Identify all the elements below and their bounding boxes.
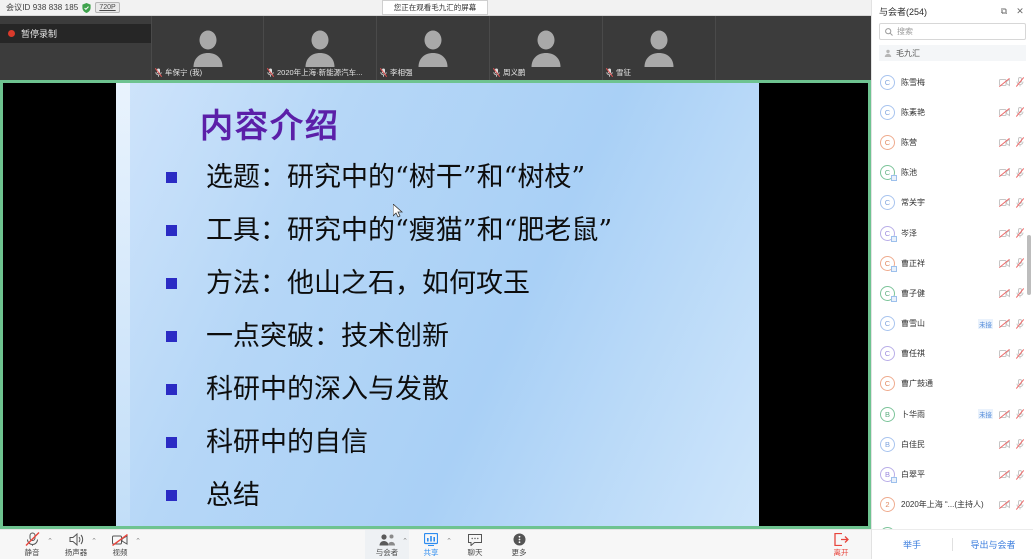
toolbar-button-label: 静音: [25, 547, 40, 558]
toolbar-leave-button[interactable]: 离开: [819, 530, 863, 559]
participant-tag: 未接: [978, 409, 993, 419]
participant-name: 常关宇: [901, 197, 993, 208]
participant-row[interactable]: C陈池: [872, 158, 1033, 188]
participant-status-icons: [999, 409, 1024, 419]
toolbar-right-group: 离开: [819, 530, 863, 559]
participant-row[interactable]: 22020年上海 “...(主持人): [872, 490, 1033, 520]
more-icon: [513, 532, 526, 546]
panel-header: 与会者(254) ⧉ ✕: [872, 0, 1033, 22]
search-placeholder: 搜索: [897, 26, 913, 37]
bullet-text: 选题：研究中的“树干”和“树枝”: [206, 160, 585, 196]
mic-muted-icon: [155, 68, 162, 77]
participant-row[interactable]: B卜华雨未接: [872, 399, 1033, 429]
mic-muted-icon: [1016, 77, 1024, 87]
participant-row[interactable]: C岑泽: [872, 218, 1033, 248]
bullet-marker-icon: [166, 384, 177, 395]
raise-hand-button[interactable]: 举手: [872, 538, 952, 551]
participant-name: 卜华雨: [901, 409, 972, 420]
avatar: C: [880, 286, 895, 301]
participant-name: 2020年上海 “...(主持人): [901, 499, 993, 510]
mic-muted-icon: [1016, 379, 1024, 389]
mic-muted-icon: [1016, 349, 1024, 359]
thumbnail-name: 雪征: [616, 67, 631, 78]
participant-row[interactable]: C曹雪山未接: [872, 309, 1033, 339]
toolbar-chat-button[interactable]: 聊天: [453, 530, 497, 559]
avatar: [190, 27, 225, 67]
participant-row[interactable]: C曹正祥: [872, 248, 1033, 278]
chevron-up-icon[interactable]: ⌃: [135, 537, 141, 545]
participant-row[interactable]: B白佳民: [872, 429, 1033, 459]
meeting-toolbar: 静音⌃扬声器⌃视频⌃ 与会者⌃共享⌃聊天更多 离开: [0, 529, 871, 559]
bullet-text: 科研中的自信: [206, 425, 368, 461]
participant-row[interactable]: C常关宇: [872, 188, 1033, 218]
avatar: B: [880, 467, 895, 482]
mic-muted-icon: [606, 68, 613, 77]
toolbar-button-label: 共享: [424, 547, 439, 558]
video-thumbnail[interactable]: 2020年上海·新能源汽车...: [264, 16, 377, 80]
mic-muted-icon: [1016, 168, 1024, 178]
viewing-notice: 您正在观看毛九汇的屏幕: [382, 0, 488, 15]
slide-bullet: 选题：研究中的“树干”和“树枝”: [166, 160, 756, 213]
participant-status-icons: [999, 349, 1024, 359]
video-thumbnail[interactable]: 牟保宁 (我): [151, 16, 264, 80]
thumbnail-label: 李相强: [380, 67, 413, 78]
participant-status-icons: [999, 107, 1024, 117]
camera-off-icon: [999, 229, 1010, 238]
camera-off-icon: [999, 289, 1010, 298]
device-badge-icon: [891, 236, 897, 242]
video-off-icon: [112, 532, 128, 546]
participant-list[interactable]: C陈雪梅C陈素艳C陈营C陈池C常关宇C岑泽C曹正祥C曹子健C曹雪山未接C曹任祺C…: [872, 65, 1033, 529]
avatar: C: [880, 346, 895, 361]
mic-muted-icon: [380, 68, 387, 77]
participant-status-icons: [999, 500, 1024, 510]
participant-row[interactable]: C陈营: [872, 127, 1033, 157]
participant-status-icons: [999, 439, 1024, 449]
meeting-info: 会议ID 938 838 185 720P: [0, 2, 120, 13]
recording-label: 暂停录制: [21, 27, 57, 40]
slide-bullet-list: 选题：研究中的“树干”和“树枝”工具：研究中的“瘦猫”和“肥老鼠”方法：他山之石…: [166, 160, 756, 526]
panel-scrollbar[interactable]: [1028, 65, 1032, 529]
toolbar-share-screen-button[interactable]: 共享⌃: [409, 530, 453, 559]
mic-muted-icon: [1016, 439, 1024, 449]
participants-icon: [379, 532, 396, 546]
participant-row[interactable]: M牟保宁 (我): [872, 520, 1033, 529]
camera-off-icon: [999, 78, 1010, 87]
toolbar-button-label: 更多: [512, 547, 527, 558]
video-thumbnail[interactable]: 李相强: [377, 16, 490, 80]
camera-off-icon: [999, 440, 1010, 449]
bullet-marker-icon: [166, 225, 177, 236]
thumbnail-list: 牟保宁 (我)2020年上海·新能源汽车...李相强周义鹏雪征: [151, 16, 716, 80]
device-badge-icon: [891, 477, 897, 483]
chevron-up-icon[interactable]: ⌃: [91, 537, 97, 545]
avatar: 2: [880, 497, 895, 512]
thumbnail-name: 李相强: [390, 67, 413, 78]
self-participant-row[interactable]: 毛九汇: [879, 45, 1026, 61]
camera-off-icon: [999, 470, 1010, 479]
participant-row[interactable]: C陈雪梅: [872, 67, 1033, 97]
speaker-icon: [69, 532, 84, 546]
avatar: C: [880, 226, 895, 241]
search-input[interactable]: 搜索: [879, 23, 1026, 40]
mic-muted-icon: [1016, 228, 1024, 238]
participant-name: 曹广鼓通: [901, 378, 1010, 389]
avatar: C: [880, 316, 895, 331]
mic-muted-icon: [1016, 319, 1024, 329]
toolbar-participants-button[interactable]: 与会者⌃: [365, 530, 409, 559]
participant-status-icons: [999, 77, 1024, 87]
shared-screen-area: 内容介绍 选题：研究中的“树干”和“树枝”工具：研究中的“瘦猫”和“肥老鼠”方法…: [0, 80, 871, 529]
toolbar-button-label: 聊天: [468, 547, 483, 558]
avatar: [303, 27, 338, 67]
person-icon: [884, 49, 892, 57]
record-dot-icon: [8, 30, 15, 37]
avatar: B: [880, 407, 895, 422]
avatar: C: [880, 195, 895, 210]
participant-status-icons: [999, 228, 1024, 238]
shield-icon[interactable]: [82, 3, 91, 13]
meeting-id-label: 会议ID 938 838 185: [6, 2, 78, 13]
slide-bullet: 科研中的自信: [166, 425, 756, 478]
chevron-up-icon[interactable]: ⌃: [402, 537, 408, 545]
bullet-text: 方法：他山之石，如何攻玉: [206, 266, 530, 302]
mic-muted-icon: [1016, 137, 1024, 147]
chevron-up-icon[interactable]: ⌃: [47, 537, 53, 545]
slide-bullet: 方法：他山之石，如何攻玉: [166, 266, 756, 319]
participant-name: 陈雪梅: [901, 77, 993, 88]
participant-row[interactable]: B白翠平: [872, 459, 1033, 489]
device-badge-icon: [891, 296, 897, 302]
leave-icon: [834, 532, 849, 546]
popout-icon[interactable]: ⧉: [998, 6, 1010, 17]
participant-name: 曹任祺: [901, 348, 993, 359]
participant-name: 白佳民: [901, 439, 993, 450]
camera-off-icon: [999, 319, 1010, 328]
toolbar-left-group: 静音⌃扬声器⌃视频⌃: [10, 530, 142, 559]
bullet-text: 工具：研究中的“瘦猫”和“肥老鼠”: [206, 213, 612, 249]
slide-bullet: 一点突破：技术创新: [166, 319, 756, 372]
participant-name: 白翠平: [901, 469, 993, 480]
thumbnail-label: 牟保宁 (我): [155, 67, 202, 78]
presentation-slide: 内容介绍 选题：研究中的“树干”和“树枝”工具：研究中的“瘦猫”和“肥老鼠”方法…: [116, 83, 759, 526]
export-participants-button[interactable]: 导出与会者: [953, 538, 1033, 551]
thumbnail-name: 周义鹏: [503, 67, 526, 78]
participant-status-icons: [999, 470, 1024, 480]
participant-name: 曹子健: [901, 288, 993, 299]
participant-row[interactable]: C陈素艳: [872, 97, 1033, 127]
thumbnail-label: 2020年上海·新能源汽车...: [267, 67, 362, 78]
camera-off-icon: [999, 259, 1010, 268]
mic-muted-icon: [1016, 258, 1024, 268]
participant-row[interactable]: C曹任祺: [872, 339, 1033, 369]
avatar: M: [880, 527, 895, 529]
thumbnail-label: 周义鹏: [493, 67, 526, 78]
toolbar-center-group: 与会者⌃共享⌃聊天更多: [365, 530, 541, 559]
camera-off-icon: [999, 410, 1010, 419]
toolbar-mic-muted-button[interactable]: 静音⌃: [10, 530, 54, 559]
toolbar-speaker-button[interactable]: 扬声器⌃: [54, 530, 98, 559]
slide-bullet: 总结: [166, 478, 756, 526]
mic-muted-icon: [25, 532, 40, 546]
mic-muted-icon: [493, 68, 500, 77]
participants-panel: 与会者(254) ⧉ ✕ 搜索 毛九汇 C陈雪梅C陈素艳C陈营C陈池C常关宇C岑…: [871, 0, 1033, 559]
panel-footer: 举手 导出与会者: [872, 529, 1033, 559]
bullet-marker-icon: [166, 331, 177, 342]
toolbar-video-off-button[interactable]: 视频⌃: [98, 530, 142, 559]
self-participant-name: 毛九汇: [896, 48, 920, 59]
shared-content: 内容介绍 选题：研究中的“树干”和“树枝”工具：研究中的“瘦猫”和“肥老鼠”方法…: [3, 83, 868, 526]
toolbar-button-label: 扬声器: [65, 547, 88, 558]
avatar: C: [880, 75, 895, 90]
panel-title: 与会者(254): [879, 5, 994, 18]
bullet-marker-icon: [166, 172, 177, 183]
bullet-text: 一点突破：技术创新: [206, 319, 449, 355]
participant-status-icons: [1016, 379, 1024, 389]
bullet-marker-icon: [166, 490, 177, 501]
participant-tag: 未接: [978, 319, 993, 329]
slide-title: 内容介绍: [200, 99, 340, 147]
mic-muted-icon: [1016, 198, 1024, 208]
chevron-up-icon[interactable]: ⌃: [446, 537, 452, 545]
participant-row[interactable]: C曹广鼓通: [872, 369, 1033, 399]
participant-name: 陈池: [901, 167, 993, 178]
chat-icon: [468, 532, 482, 546]
camera-off-icon: [999, 500, 1010, 509]
avatar: C: [880, 135, 895, 150]
participant-name: 陈营: [901, 137, 993, 148]
avatar: C: [880, 105, 895, 120]
participant-name: 陈素艳: [901, 107, 993, 118]
avatar: [642, 27, 677, 67]
camera-off-icon: [999, 168, 1010, 177]
camera-off-icon: [999, 349, 1010, 358]
thumbnail-name: 2020年上海·新能源汽车...: [277, 67, 362, 78]
participant-row[interactable]: C曹子健: [872, 278, 1033, 308]
participant-status-icons: [999, 288, 1024, 298]
avatar: [416, 27, 451, 67]
avatar: C: [880, 376, 895, 391]
participant-name: 岑泽: [901, 228, 993, 239]
toolbar-button-label: 视频: [113, 547, 128, 558]
video-thumbnail[interactable]: 周义鹏: [490, 16, 603, 80]
mic-muted-icon: [1016, 107, 1024, 117]
avatar: B: [880, 437, 895, 452]
thumbnail-name: 牟保宁 (我): [165, 67, 202, 78]
zoom-meeting-window: 会议ID 938 838 185 720P 您正在观看毛九汇的屏幕 00:18:…: [0, 0, 1033, 559]
recording-indicator[interactable]: 暂停录制: [0, 24, 151, 43]
participant-name: 曹雪山: [901, 318, 972, 329]
bullet-text: 总结: [206, 478, 260, 514]
participant-status-icons: [999, 168, 1024, 178]
share-screen-icon: [424, 532, 438, 546]
panel-scroll-thumb[interactable]: [1027, 235, 1031, 295]
close-icon[interactable]: ✕: [1014, 6, 1026, 17]
slide-bullet: 科研中的深入与发散: [166, 372, 756, 425]
participant-name: 曹正祥: [901, 258, 993, 269]
bullet-marker-icon: [166, 437, 177, 448]
participant-status-icons: [999, 137, 1024, 147]
avatar: [529, 27, 564, 67]
camera-off-icon: [999, 108, 1010, 117]
mic-muted-icon: [1016, 288, 1024, 298]
toolbar-button-label: 离开: [834, 547, 849, 558]
toolbar-button-label: 与会者: [376, 547, 399, 558]
mic-muted-icon: [267, 68, 274, 77]
search-icon: [885, 28, 893, 36]
device-badge-icon: [891, 266, 897, 272]
bullet-marker-icon: [166, 278, 177, 289]
slide-bullet: 工具：研究中的“瘦猫”和“肥老鼠”: [166, 213, 756, 266]
mic-muted-icon: [1016, 470, 1024, 480]
device-badge-icon: [891, 175, 897, 181]
participant-status-icons: [999, 319, 1024, 329]
avatar: C: [880, 256, 895, 271]
quality-badge[interactable]: 720P: [95, 2, 119, 13]
camera-off-icon: [999, 138, 1010, 147]
mouse-cursor-icon: [393, 204, 403, 219]
toolbar-more-button[interactable]: 更多: [497, 530, 541, 559]
participant-status-icons: [999, 198, 1024, 208]
bullet-text: 科研中的深入与发散: [206, 372, 449, 408]
thumbnail-label: 雪征: [606, 67, 631, 78]
mic-muted-icon: [1016, 409, 1024, 419]
participant-status-icons: [999, 258, 1024, 268]
video-thumbnail[interactable]: 雪征: [603, 16, 716, 80]
avatar: C: [880, 165, 895, 180]
mic-muted-icon: [1016, 500, 1024, 510]
camera-off-icon: [999, 198, 1010, 207]
